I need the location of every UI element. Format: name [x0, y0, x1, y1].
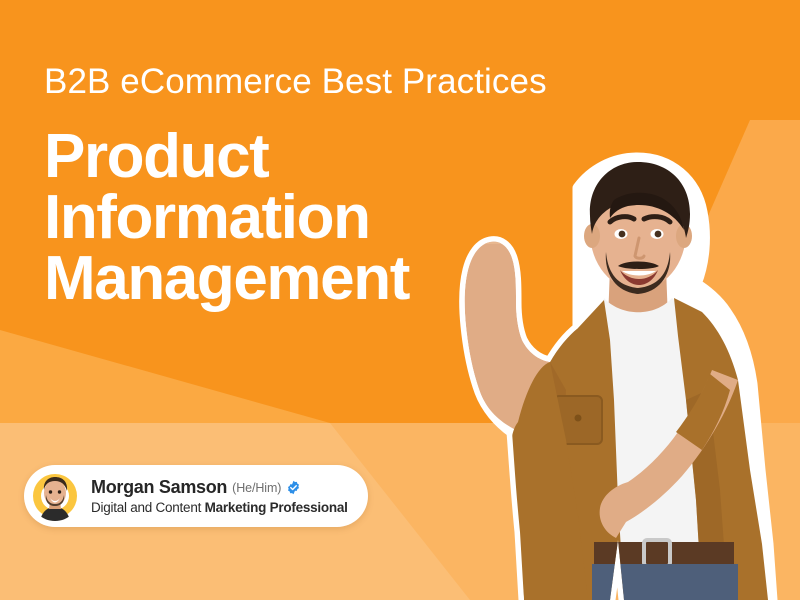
presenter-role-prefix: Digital and Content: [91, 500, 205, 515]
headline-line-2: Information: [44, 188, 514, 249]
presentation-slide: B2B eCommerce Best Practices Product Inf…: [0, 0, 800, 600]
hero-text: B2B eCommerce Best Practices Product Inf…: [44, 62, 514, 309]
presenter-role-emphasis: Marketing Professional: [205, 500, 348, 515]
eyebrow-text: B2B eCommerce Best Practices: [44, 62, 514, 101]
headline-line-1: Product: [44, 127, 514, 188]
presenter-role: Digital and Content Marketing Profession…: [91, 500, 348, 515]
verified-badge-icon: [286, 480, 301, 495]
avatar: [30, 471, 80, 521]
presenter-name-row: Morgan Samson (He/Him): [91, 477, 348, 498]
presenter-name-card: Morgan Samson (He/Him) Digital and Conte…: [24, 465, 368, 527]
page-title: Product Information Management: [44, 127, 514, 309]
background-wedge-left-upper: [0, 330, 330, 423]
presenter-pronouns: (He/Him): [232, 481, 281, 495]
presenter-name: Morgan Samson: [91, 477, 227, 498]
presenter-details: Morgan Samson (He/Him) Digital and Conte…: [91, 477, 348, 515]
headline-line-3: Management: [44, 249, 514, 310]
